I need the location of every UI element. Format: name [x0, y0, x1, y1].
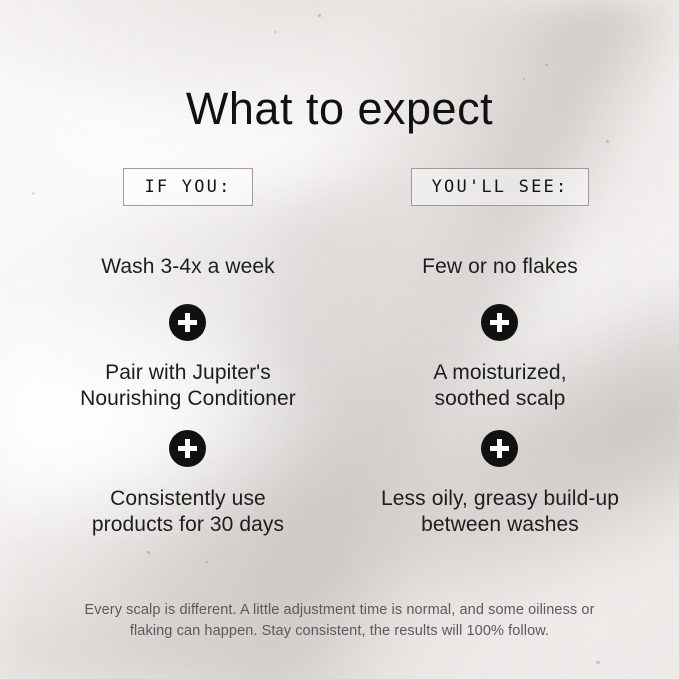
- infographic-canvas: What to expect IF YOU: Wash 3-4x a week …: [0, 0, 679, 679]
- list-item: Less oily, greasy build-up between washe…: [350, 486, 650, 538]
- disclaimer-text: Every scalp is different. A little adjus…: [56, 600, 623, 642]
- plus-icon: [169, 430, 206, 467]
- list-item: Few or no flakes: [350, 254, 650, 280]
- disclaimer-line: flaking can happen. Stay consistent, the…: [56, 621, 623, 642]
- plus-icon: [481, 304, 518, 341]
- list-item-line: soothed scalp: [350, 386, 650, 412]
- column-header-youll-see: YOU'LL SEE:: [411, 168, 590, 206]
- list-item-line: Less oily, greasy build-up: [350, 486, 650, 512]
- column-youll-see: YOU'LL SEE: Few or no flakes A moisturiz…: [350, 168, 650, 206]
- list-item-line: products for 30 days: [38, 512, 338, 538]
- column-if-you: IF YOU: Wash 3-4x a week Pair with Jupit…: [38, 168, 338, 206]
- list-item: Pair with Jupiter's Nourishing Condition…: [38, 360, 338, 412]
- plus-icon: [169, 304, 206, 341]
- column-header-if-you: IF YOU:: [123, 168, 252, 206]
- list-item: Wash 3-4x a week: [38, 254, 338, 280]
- list-item-line: Wash 3-4x a week: [38, 254, 338, 280]
- list-item-line: Nourishing Conditioner: [38, 386, 338, 412]
- list-item-line: between washes: [350, 512, 650, 538]
- list-item-line: A moisturized,: [350, 360, 650, 386]
- list-item: A moisturized, soothed scalp: [350, 360, 650, 412]
- plus-icon: [481, 430, 518, 467]
- list-item: Consistently use products for 30 days: [38, 486, 338, 538]
- disclaimer-line: Every scalp is different. A little adjus…: [56, 600, 623, 621]
- list-item-line: Consistently use: [38, 486, 338, 512]
- list-item-line: Few or no flakes: [350, 254, 650, 280]
- list-item-line: Pair with Jupiter's: [38, 360, 338, 386]
- page-title: What to expect: [0, 86, 679, 131]
